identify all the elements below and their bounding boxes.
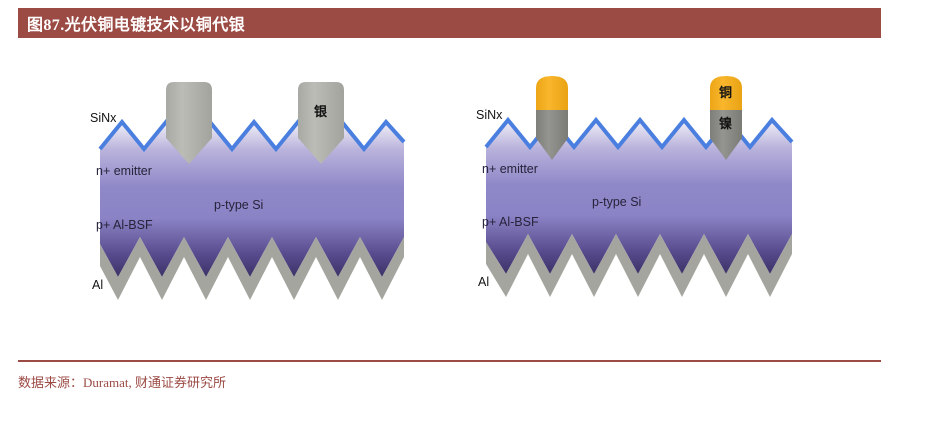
diagram-copper-plated-cell: SiNx n+ emitter p-type Si p+ Al-BSF Al 铜… <box>472 52 817 342</box>
footer-divider <box>18 360 881 362</box>
figure-title-bar: 图87.光伏铜电镀技术以铜代银 <box>18 8 881 38</box>
silver-cell-svg <box>82 52 422 342</box>
copper-plating-2 <box>710 76 742 110</box>
copper-cell-svg <box>472 52 817 342</box>
figure-canvas: SiNx n+ emitter p-type Si p+ Al-BSF Al 银 <box>18 52 881 342</box>
data-source-note: 数据来源：Duramat, 财通证券研究所 <box>18 372 226 391</box>
page-title: 图87.光伏铜电镀技术以铜代银 <box>18 11 245 35</box>
copper-plating-1 <box>536 76 568 110</box>
diagram-screen-printed-silver-cell: SiNx n+ emitter p-type Si p+ Al-BSF Al 银 <box>82 52 422 342</box>
